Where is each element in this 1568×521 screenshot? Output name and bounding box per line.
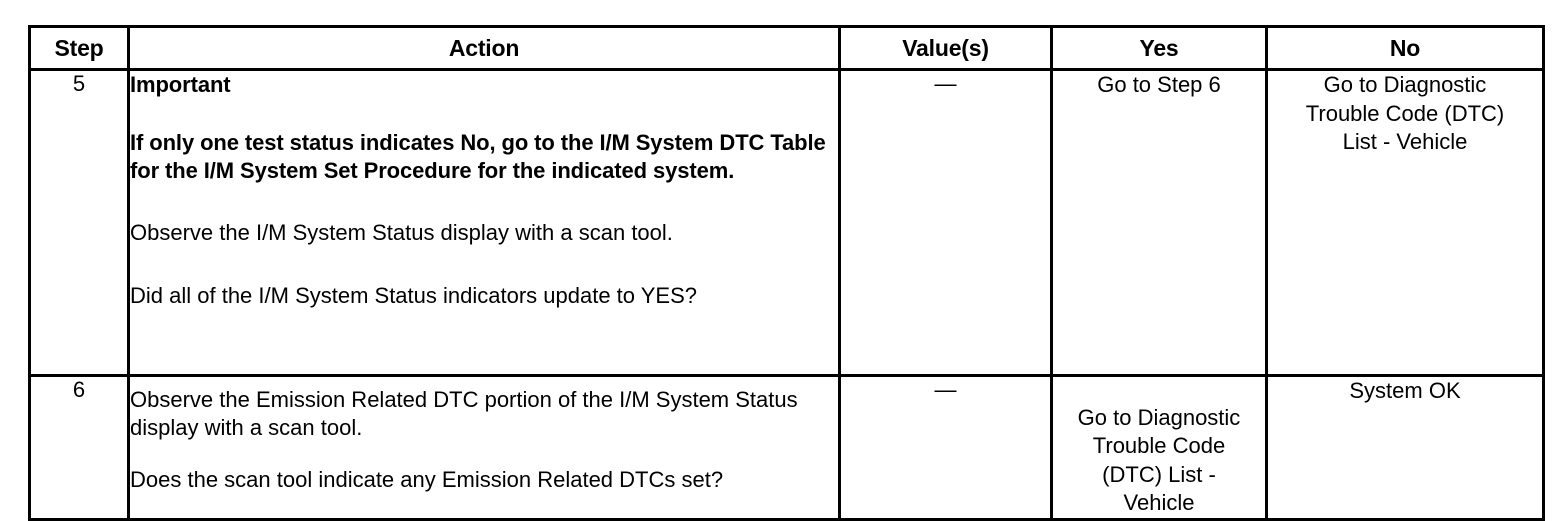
no-branch-cell: System OK — [1267, 376, 1544, 520]
action-question: Does the scan tool indicate any Emission… — [130, 466, 838, 494]
yes-branch-line-2: Trouble Code — [1053, 432, 1265, 461]
yes-branch-cell: Go to Step 6 — [1052, 70, 1267, 376]
column-header-no: No — [1267, 27, 1544, 70]
column-header-value: Value(s) — [840, 27, 1052, 70]
action-cell: Important If only one test status indica… — [129, 70, 840, 376]
column-header-step: Step — [30, 27, 129, 70]
value-dash: — — [935, 73, 957, 95]
no-branch-cell: Go to Diagnostic Trouble Code (DTC) List… — [1267, 70, 1544, 376]
action-instruction: Observe the Emission Related DTC portion… — [130, 386, 838, 442]
important-body: If only one test status indicates No, go… — [130, 129, 838, 185]
step-number: 6 — [30, 376, 129, 520]
page-root: Step Action Value(s) Yes No 5 Important … — [0, 0, 1568, 520]
diagnostic-table: Step Action Value(s) Yes No 5 Important … — [28, 25, 1545, 521]
spacer — [130, 99, 838, 129]
yes-branch-line-1: Go to Diagnostic — [1053, 404, 1265, 433]
value-cell: — — [840, 70, 1052, 376]
spacer — [130, 442, 838, 466]
no-branch-line-1: Go to Diagnostic — [1268, 71, 1542, 100]
table-row: 6 Observe the Emission Related DTC porti… — [30, 376, 1544, 520]
no-branch-line-3: List - Vehicle — [1268, 128, 1542, 157]
table-row: 5 Important If only one test status indi… — [30, 70, 1544, 376]
spacer — [130, 185, 838, 219]
table-header-row: Step Action Value(s) Yes No — [30, 27, 1544, 70]
no-branch-text: System OK — [1268, 377, 1542, 406]
no-branch-line-2: Trouble Code (DTC) — [1268, 100, 1542, 129]
action-question: Did all of the I/M System Status indicat… — [130, 282, 838, 310]
yes-branch-line-3: (DTC) List - — [1053, 461, 1265, 490]
yes-branch-line-4: Vehicle — [1053, 489, 1265, 518]
value-cell: — — [840, 376, 1052, 520]
action-cell: Observe the Emission Related DTC portion… — [129, 376, 840, 520]
step-number: 5 — [30, 70, 129, 376]
column-header-action: Action — [129, 27, 840, 70]
action-instruction: Observe the I/M System Status display wi… — [130, 219, 838, 247]
column-header-yes: Yes — [1052, 27, 1267, 70]
yes-branch-cell: Go to Diagnostic Trouble Code (DTC) List… — [1052, 376, 1267, 520]
yes-branch-text: Go to Step 6 — [1053, 71, 1265, 100]
important-heading: Important — [130, 71, 838, 99]
spacer — [130, 248, 838, 282]
value-dash: — — [935, 379, 957, 401]
